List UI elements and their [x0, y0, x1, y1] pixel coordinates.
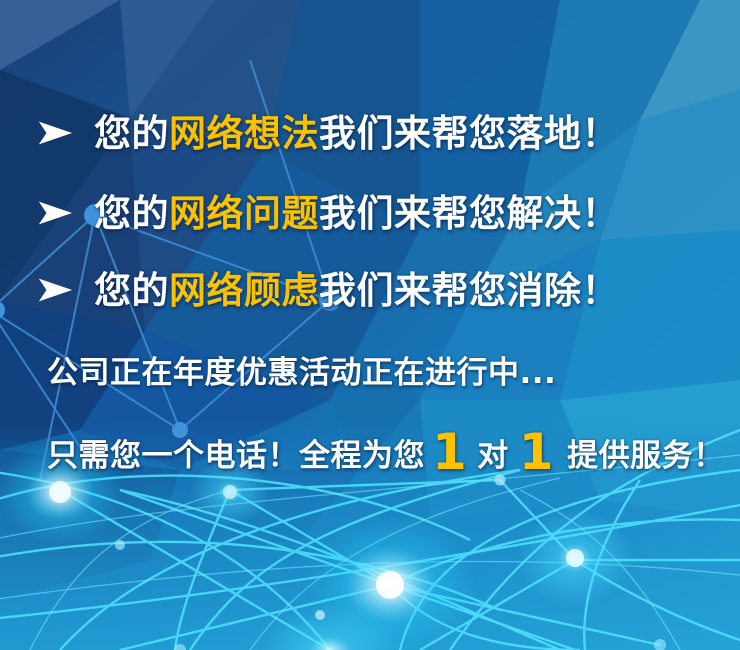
service-line-part2: 提供服务！ [561, 441, 731, 472]
bullet-highlight: 网络顾虑 [169, 269, 319, 312]
service-line-middle: 对 [474, 441, 512, 472]
bullet-suffix: 我们来帮您解决！ [319, 192, 619, 235]
bullet-row: 您的网络顾虑我们来帮您消除！ [0, 262, 740, 318]
promo-line: 公司正在年度优惠活动正在进行中... [47, 358, 556, 389]
banner-content: 您的网络想法我们来帮您落地！ 您的网络问题我们来帮您解决！ 您的网络顾虑我们来帮… [0, 0, 740, 650]
bullet-text: 您的网络问题我们来帮您解决！ [94, 195, 619, 232]
bullet-text: 您的网络顾虑我们来帮您消除！ [94, 272, 619, 309]
arrow-right-icon [36, 274, 74, 306]
promo-banner: 您的网络想法我们来帮您落地！ 您的网络问题我们来帮您解决！ 您的网络顾虑我们来帮… [0, 0, 740, 650]
bullet-suffix: 我们来帮您落地！ [319, 112, 619, 155]
bullet-prefix: 您的 [94, 112, 169, 155]
arrow-right-icon [36, 197, 74, 229]
bullet-suffix: 我们来帮您消除！ [319, 269, 619, 312]
service-line: 只需您一个电话！全程为您 1 对 1 提供服务！ [47, 424, 731, 474]
service-number-one-first: 1 [425, 427, 474, 477]
bullet-highlight: 网络问题 [169, 192, 319, 235]
service-line-part1: 只需您一个电话！全程为您 [47, 441, 425, 472]
bullet-prefix: 您的 [94, 269, 169, 312]
bullet-highlight: 网络想法 [169, 112, 319, 155]
bullet-row: 您的网络问题我们来帮您解决！ [0, 185, 740, 241]
service-number-one-second: 1 [512, 427, 561, 477]
bullet-prefix: 您的 [94, 192, 169, 235]
bullet-row: 您的网络想法我们来帮您落地！ [0, 105, 740, 161]
bullet-text: 您的网络想法我们来帮您落地！ [94, 115, 619, 152]
arrow-right-icon [36, 117, 74, 149]
